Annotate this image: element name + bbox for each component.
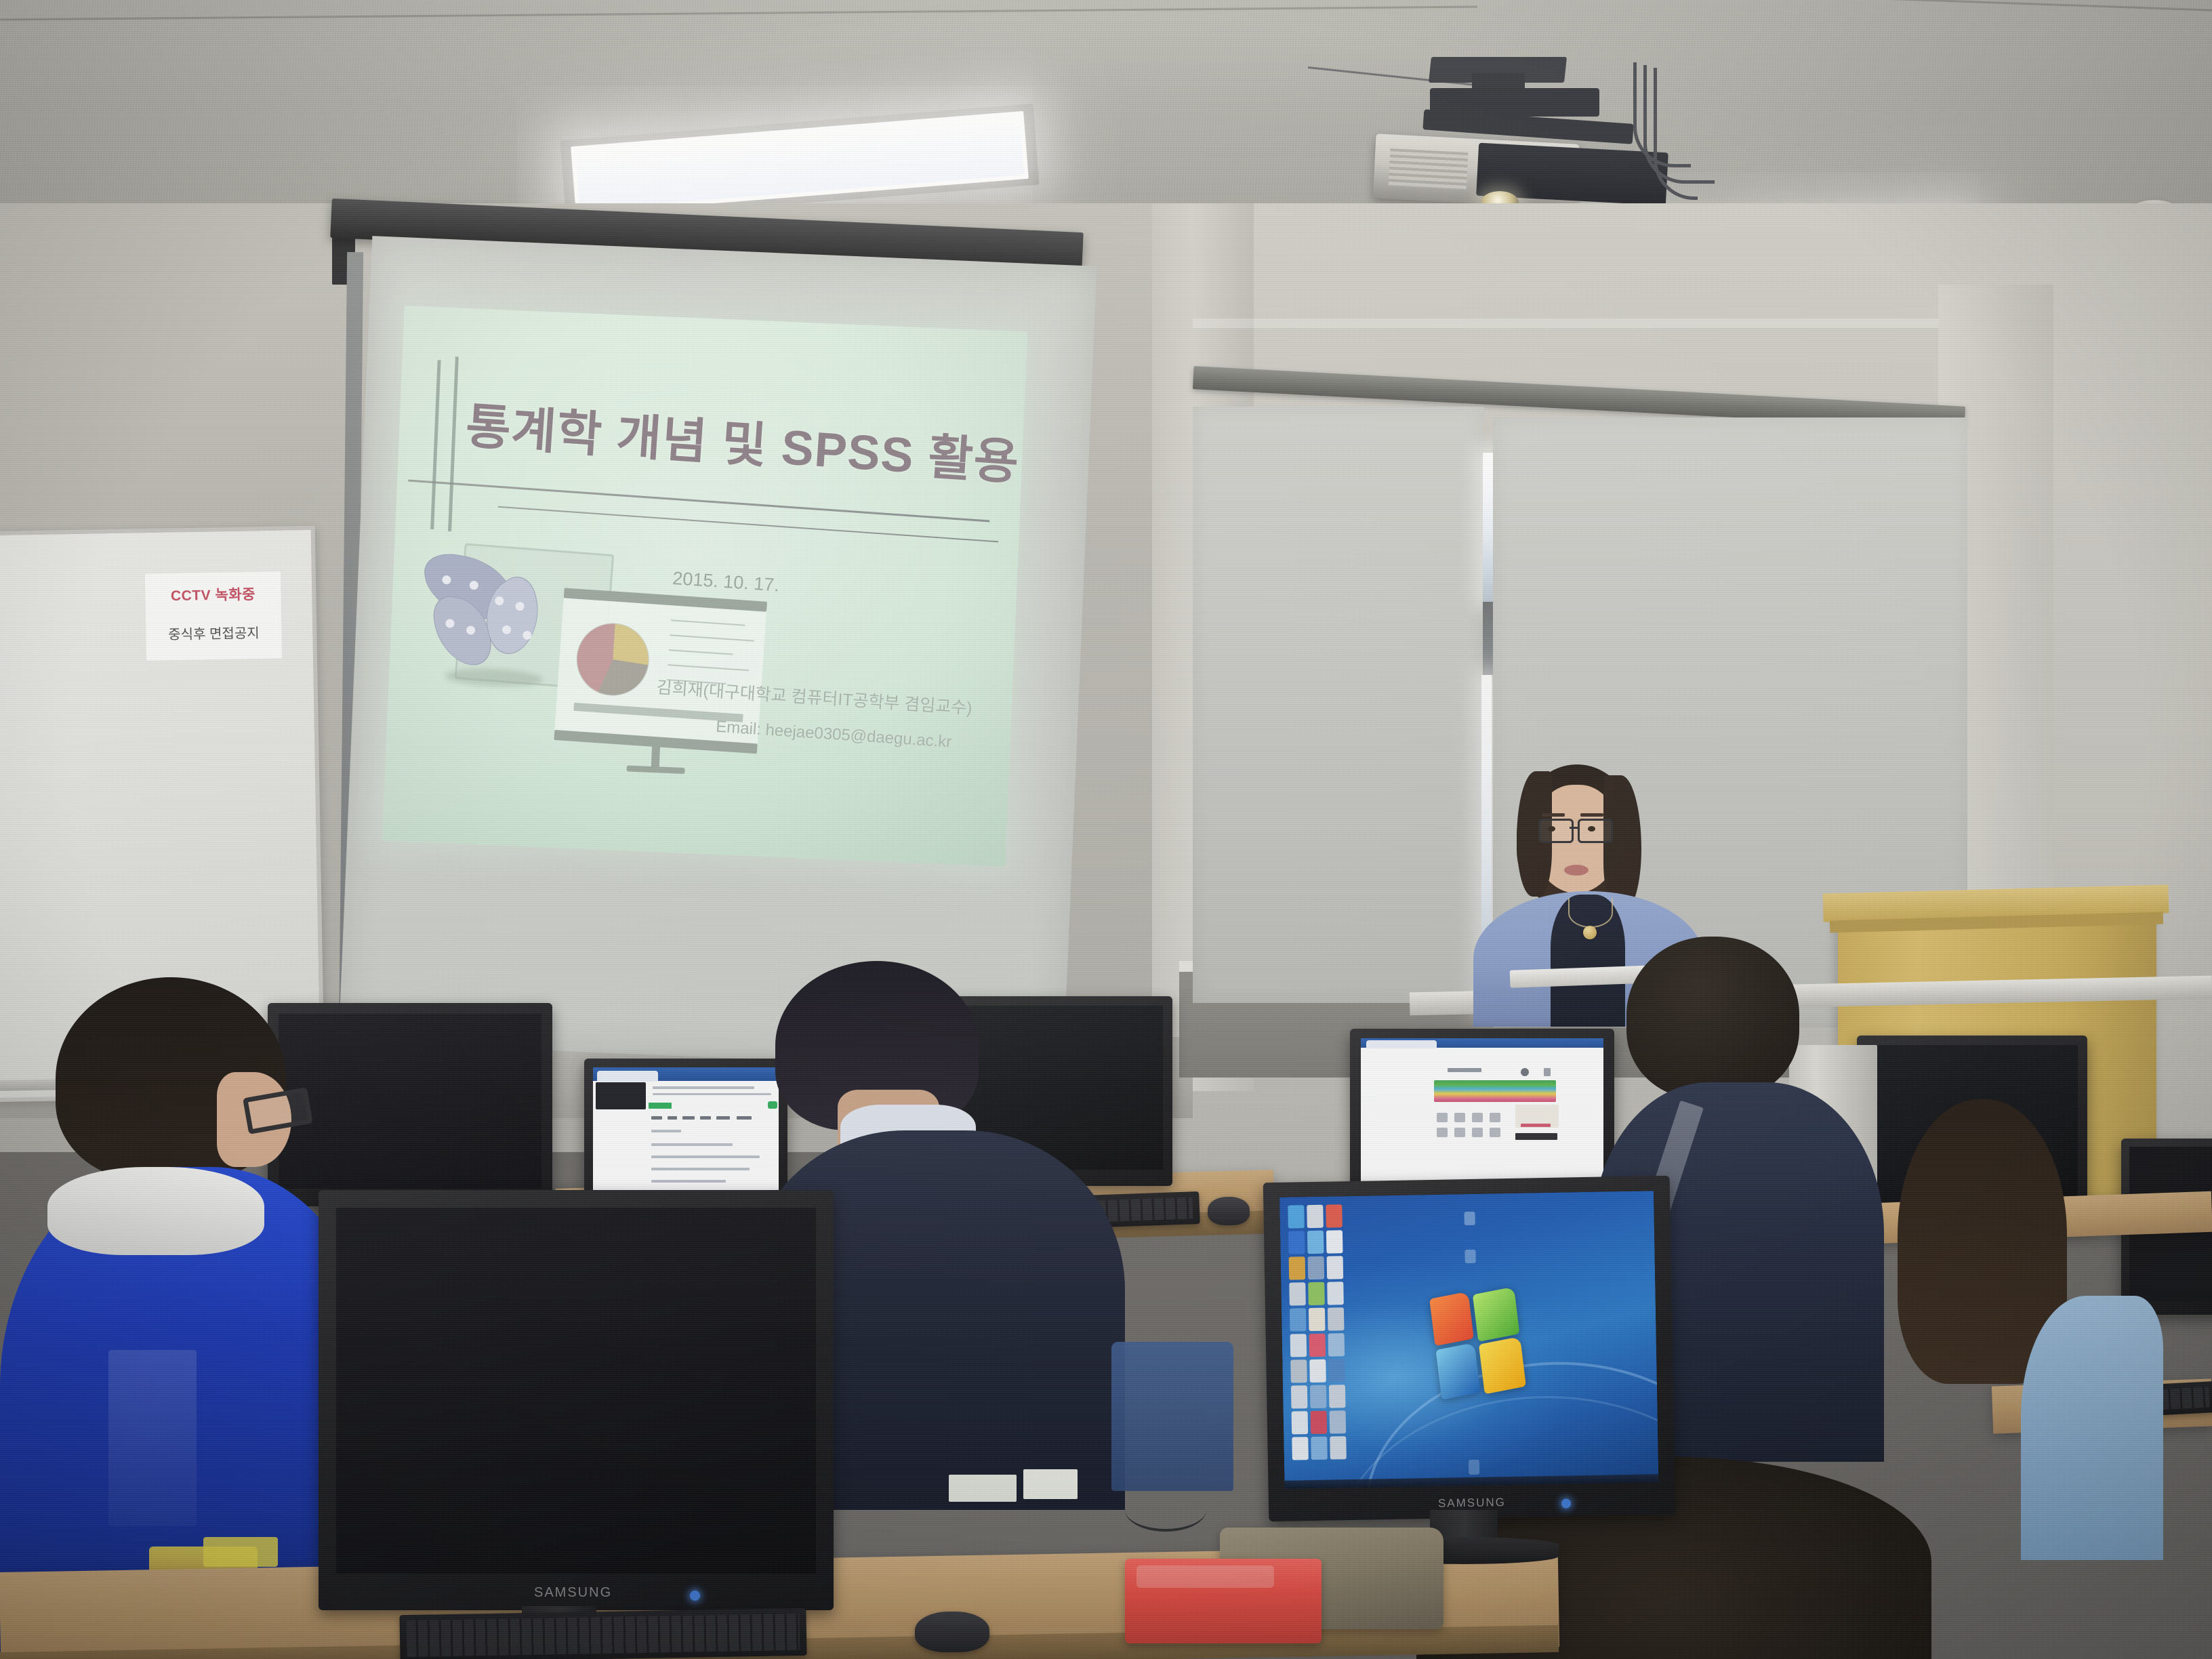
presenter-glasses-right [1578, 819, 1613, 843]
logo-quadrant-red [1429, 1292, 1474, 1347]
browser-tab[interactable] [597, 1071, 658, 1082]
page-accent-line [649, 1103, 672, 1109]
desk-label-sticker [1023, 1469, 1078, 1499]
page-grid-cell[interactable] [1490, 1128, 1500, 1137]
desktop-icon[interactable] [1292, 1411, 1309, 1434]
presenter-mouth [1564, 865, 1589, 876]
blind-panel-left [1193, 407, 1484, 1003]
projector-vent [1389, 148, 1469, 190]
page-grid-cell[interactable] [1490, 1113, 1500, 1122]
page-grid-cell[interactable] [1454, 1128, 1465, 1137]
student-sleeve [2021, 1296, 2163, 1560]
page-cta-button[interactable] [1515, 1133, 1557, 1140]
page-toolbar-item[interactable] [651, 1116, 662, 1120]
page-cta-text [1521, 1124, 1551, 1127]
desktop-icon[interactable] [1308, 1256, 1325, 1279]
desktop-icon[interactable] [1290, 1359, 1307, 1382]
logo-quadrant-blue [1435, 1343, 1480, 1400]
projector-arm [1430, 88, 1599, 117]
pencil-case-highlight [1136, 1565, 1274, 1588]
page-grid-cell[interactable] [1437, 1113, 1448, 1122]
desktop-icon[interactable] [1307, 1205, 1324, 1228]
desktop-icon[interactable] [1311, 1411, 1328, 1434]
desktop-icon[interactable] [1289, 1256, 1306, 1279]
keyboard-keys[interactable] [407, 1614, 800, 1657]
presenter-eye [1588, 826, 1595, 832]
monitor-logo: SAMSUNG [534, 1585, 612, 1601]
desktop-icon[interactable] [1328, 1307, 1345, 1330]
pencil-case[interactable] [1125, 1559, 1322, 1643]
page-text-line [651, 1130, 681, 1132]
cctv-notice-sign: CCTV 녹화중 중식후 면접공지 [145, 571, 282, 660]
monitor-off-foreground: SAMSUNG [319, 1190, 834, 1610]
page-toolbar-item[interactable] [668, 1116, 677, 1120]
desktop-icon[interactable] [1307, 1231, 1324, 1254]
desk-label-sticker [203, 1537, 278, 1567]
presenter-hair-side [1603, 775, 1641, 911]
page-grid-cell[interactable] [1454, 1113, 1465, 1122]
student-front-left [7, 970, 359, 1659]
desktop-icon[interactable] [1308, 1282, 1325, 1305]
board-text-line [669, 649, 733, 655]
desktop-icon[interactable] [1326, 1230, 1343, 1253]
cctv-sign-line2: 중식후 면접공지 [146, 623, 281, 645]
monitor-logo: SAMSUNG [1438, 1496, 1506, 1511]
desktop-icon[interactable] [1289, 1282, 1306, 1305]
page-banner-image[interactable] [1434, 1080, 1556, 1102]
logo-quadrant-yellow [1479, 1336, 1526, 1394]
desktop-icon[interactable] [1288, 1205, 1305, 1228]
page-grid-cell[interactable] [1472, 1113, 1483, 1122]
desktop-icon-grid[interactable] [1288, 1204, 1347, 1460]
desktop-icon[interactable] [1465, 1250, 1475, 1263]
desktop-icon[interactable] [1309, 1308, 1326, 1331]
presenter-glasses-bridge [1570, 827, 1578, 829]
presenter-eyebrow [1542, 813, 1565, 817]
student-hood [47, 1167, 264, 1255]
clipart-dice-icon [410, 540, 561, 689]
student-jacket-graphic [108, 1350, 197, 1526]
page-toolbar-item[interactable] [682, 1116, 695, 1120]
browser-sidebar-panel [596, 1082, 646, 1109]
blind-gap-shadow [1483, 602, 1493, 675]
monitor-screen[interactable] [1279, 1191, 1658, 1489]
logo-quadrant-green [1473, 1287, 1520, 1342]
desktop-icon[interactable] [1330, 1436, 1347, 1459]
windows-logo-icon [1429, 1282, 1529, 1407]
desktop-icon[interactable] [1328, 1333, 1345, 1356]
projector-cable [1654, 68, 1698, 200]
board-text-line [671, 619, 745, 626]
desktop-icon[interactable] [1310, 1385, 1327, 1408]
cctv-sign-line1: CCTV 녹화중 [145, 583, 281, 607]
desktop-icon[interactable] [1327, 1256, 1344, 1279]
desktop-icon[interactable] [1292, 1437, 1309, 1460]
desktop-icon[interactable] [1291, 1385, 1308, 1408]
desktop-icon[interactable] [1326, 1204, 1343, 1227]
monitor-screen [336, 1208, 816, 1574]
desktop-icon[interactable] [1329, 1385, 1346, 1408]
page-header-item[interactable] [1521, 1068, 1529, 1076]
desktop-icon[interactable] [1309, 1334, 1326, 1357]
mouse-foreground[interactable] [915, 1612, 989, 1652]
mouse[interactable] [1208, 1197, 1250, 1225]
desktop-icon[interactable] [1311, 1437, 1328, 1460]
page-row-line [651, 1180, 726, 1183]
student-hair-curly [1626, 937, 1799, 1099]
monitor-power-led [690, 1591, 700, 1601]
windows7-desktop[interactable] [1279, 1191, 1658, 1489]
desktop-icon[interactable] [1330, 1410, 1347, 1433]
desktop-icon[interactable] [1327, 1282, 1344, 1305]
board-text-line [670, 634, 754, 641]
desktop-icon[interactable] [1290, 1334, 1307, 1357]
desk-label-sticker [949, 1475, 1017, 1502]
page-grid-cell[interactable] [1437, 1128, 1448, 1137]
clipart-pie-chart [575, 621, 651, 697]
presenter-glasses-left [1538, 819, 1574, 843]
desktop-icon[interactable] [1309, 1359, 1326, 1382]
wall-highlight [1193, 319, 1938, 328]
page-toolbar-item[interactable] [700, 1116, 711, 1120]
power-cable [1125, 1488, 1206, 1532]
classroom-photo: CCTV 녹화중 중식후 면접공지 통계학 개념 및 SPSS 활용법 [0, 0, 2212, 1659]
desktop-icon[interactable] [1469, 1460, 1479, 1475]
browser-tab[interactable] [1366, 1040, 1437, 1048]
presenter-eye [1548, 826, 1555, 832]
presenter-necklace-chain [1568, 898, 1613, 928]
keyboard-foreground[interactable] [399, 1608, 806, 1659]
board-text-line [668, 664, 749, 671]
chair[interactable] [1111, 1342, 1233, 1491]
presenter-eyebrow [1580, 813, 1603, 817]
desktop-icon[interactable] [1288, 1231, 1305, 1254]
page-header-item[interactable] [1544, 1068, 1551, 1076]
desktop-icon[interactable] [1290, 1308, 1307, 1331]
desktop-icon[interactable] [1328, 1359, 1345, 1382]
projected-slide: 통계학 개념 및 SPSS 활용법 [382, 306, 1027, 867]
desktop-icon[interactable] [1464, 1212, 1475, 1225]
monitor-desktop-win7[interactable]: SAMSUNG [1263, 1176, 1676, 1521]
page-grid-cell[interactable] [1472, 1128, 1483, 1137]
page-logo-text [1448, 1068, 1481, 1072]
